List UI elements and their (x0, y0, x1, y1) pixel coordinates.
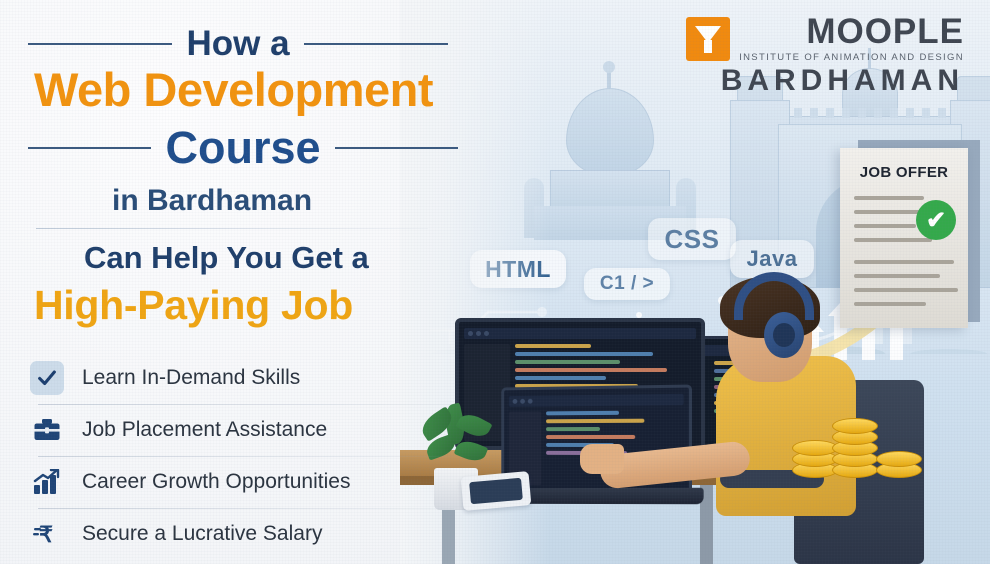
css-pill: CSS (648, 218, 736, 260)
benefits-list: Learn In-Demand Skills Job Placement Ass… (30, 352, 450, 560)
check-icon (30, 361, 64, 395)
rule-left (28, 43, 172, 45)
brand-logo: MOOPLE INSTITUTE OF ANIMATION AND DESIGN… (686, 14, 964, 96)
list-item: Job Placement Assistance (30, 404, 450, 456)
logo-brand-name: MOOPLE (806, 12, 964, 51)
headline-line-course: Course (28, 122, 458, 174)
panel-divider (36, 228, 428, 229)
job-offer-check-badge: ✔ (916, 200, 956, 240)
list-item: Career Growth Opportunities (30, 456, 450, 508)
list-item-label: Job Placement Assistance (82, 418, 327, 442)
moople-m-mark-icon (686, 17, 730, 61)
list-item-label: Learn In-Demand Skills (82, 366, 300, 390)
code-pill-label: C1 / > (600, 273, 654, 295)
headline-high-paying-job: High-Paying Job (34, 282, 353, 329)
logo-city: BARDHAMAN (686, 66, 964, 96)
logo-tagline: INSTITUTE OF ANIMATION AND DESIGN (739, 52, 964, 63)
list-item-label: Career Growth Opportunities (82, 470, 350, 494)
job-offer-document: JOB OFFER ✔ (840, 148, 968, 328)
list-item-label: Secure a Lucrative Salary (82, 522, 322, 546)
rule-right (335, 147, 458, 149)
svg-text:₹: ₹ (39, 522, 53, 547)
rule-left (28, 147, 151, 149)
java-pill-label: Java (747, 246, 798, 272)
web-development-course-banner: HTML CSS C1 / > Java (0, 0, 990, 564)
code-pill: C1 / > (584, 268, 670, 300)
headline-panel: How a Web Development Course in Bardhama… (0, 0, 470, 564)
briefcase-icon (30, 413, 64, 447)
rule-right (304, 43, 448, 45)
headphone-earcup (764, 312, 804, 358)
headline-line-how: How a (28, 24, 448, 64)
tablet-on-desk (461, 471, 532, 511)
css-pill-label: CSS (665, 224, 720, 255)
headline-course: Course (165, 122, 320, 174)
bar-chart-growth-icon (30, 465, 64, 499)
headline-in-bardhaman: in Bardhaman (112, 184, 312, 218)
headline-can-help: Can Help You Get a (84, 240, 369, 276)
person-hand (580, 444, 624, 474)
headline-web-development: Web Development (34, 62, 433, 117)
list-item: Learn In-Demand Skills (30, 352, 450, 404)
rupee-icon: ₹ (30, 517, 64, 551)
job-offer-title: JOB OFFER (840, 164, 968, 181)
headline-how: How a (186, 24, 289, 64)
list-item: ₹ Secure a Lucrative Salary (30, 508, 450, 560)
